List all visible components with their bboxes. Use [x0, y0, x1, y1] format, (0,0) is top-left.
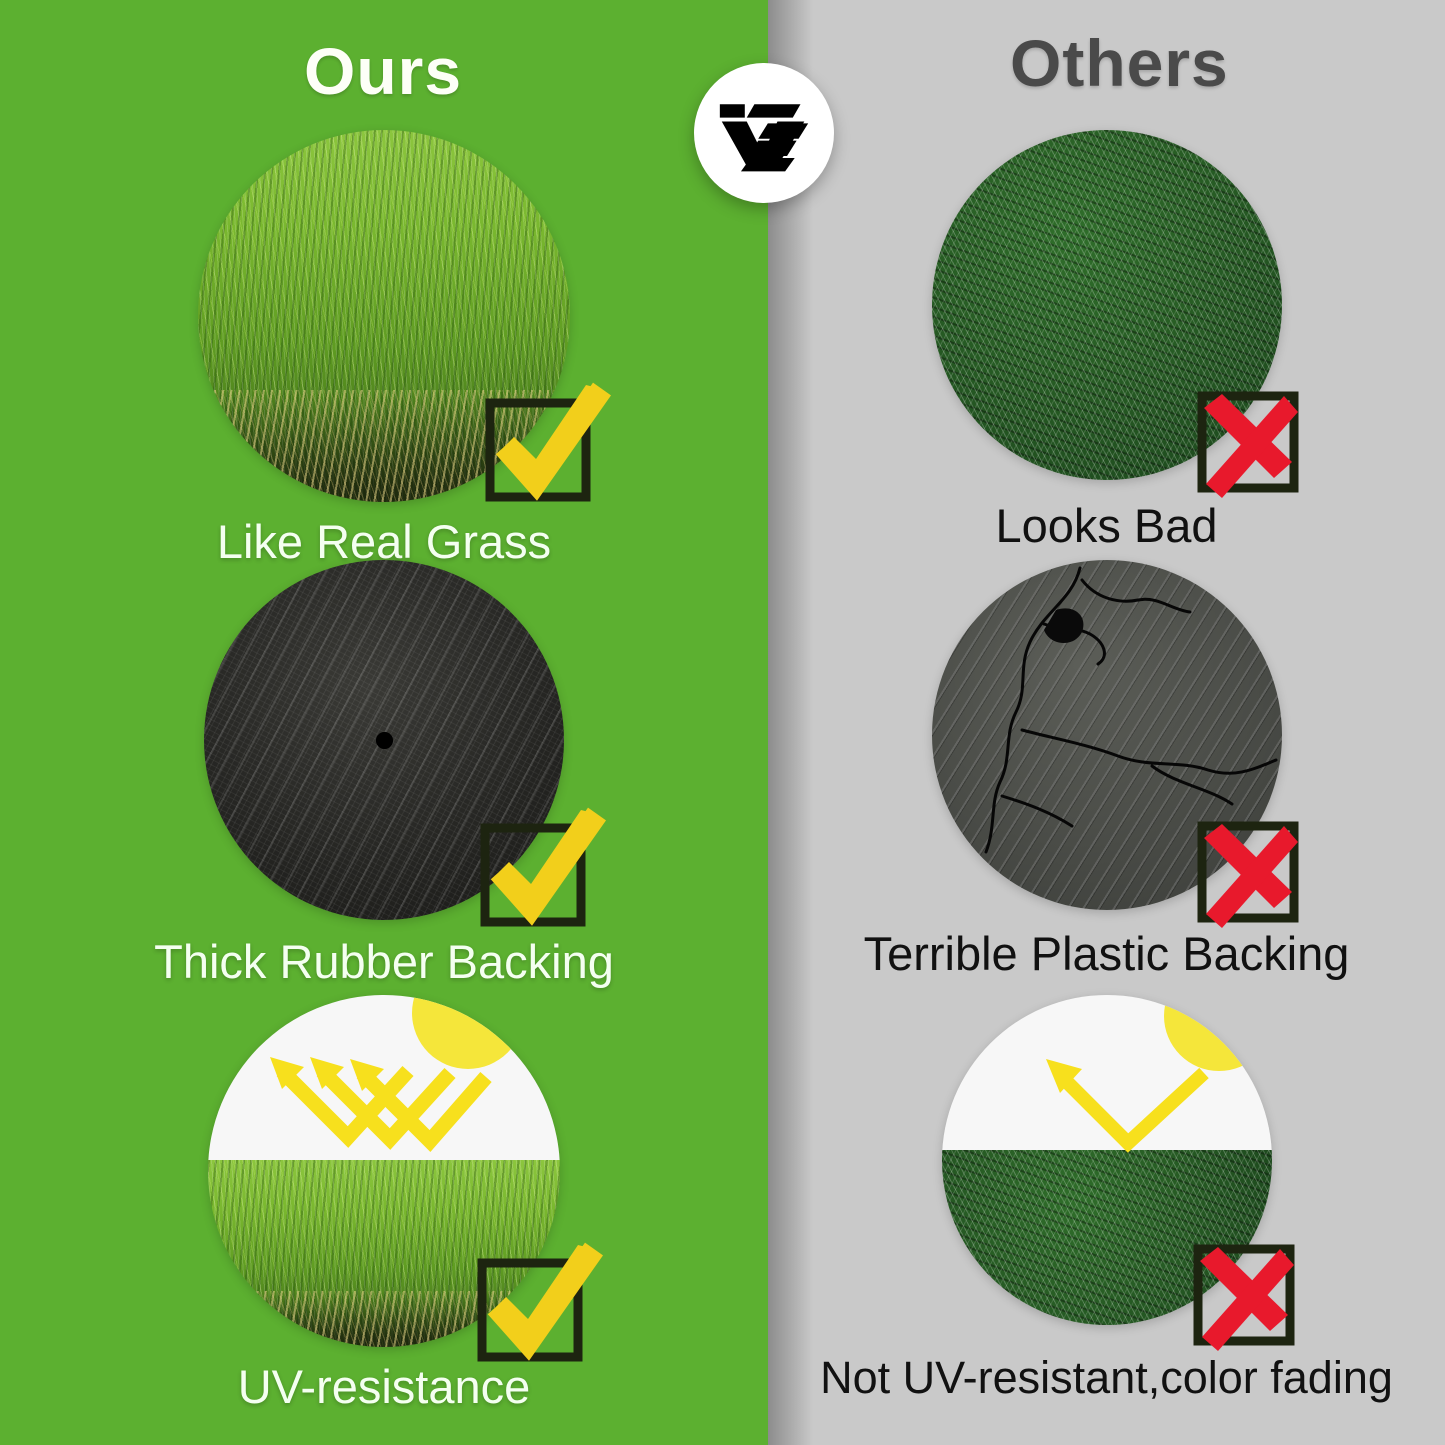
others-grass-cell: Looks Bad [768, 130, 1445, 480]
x-mark-icon [1188, 810, 1308, 930]
vs-badge [694, 63, 834, 203]
ours-backing-caption: Thick Rubber Backing [0, 938, 768, 985]
ours-backing-cell: Thick Rubber Backing [0, 560, 768, 920]
check-mark-icon [474, 385, 604, 505]
ours-uv-caption: UV-resistance [0, 1363, 768, 1410]
vs-badge-icon [716, 94, 812, 172]
others-column-title: Others [1010, 30, 1229, 96]
others-grass-caption: Looks Bad [768, 502, 1445, 549]
others-backing-cell: Terrible Plastic Backing [768, 560, 1445, 910]
ours-grass-cell: Like Real Grass [0, 130, 768, 502]
others-uv-cell: Not UV-resistant,color fading [768, 995, 1445, 1325]
row-backing: Thick Rubber Backing [0, 560, 1445, 990]
x-mark-icon [1188, 380, 1308, 500]
row-uv: UV-resistance [0, 995, 1445, 1435]
ours-column-title: Ours [304, 38, 462, 104]
others-backing-caption: Terrible Plastic Backing [768, 930, 1445, 977]
drainage-hole [376, 732, 393, 749]
comparison-infographic: Ours Others [0, 0, 1445, 1445]
check-mark-icon [466, 1245, 596, 1365]
x-mark-icon [1184, 1233, 1304, 1353]
ours-grass-caption: Like Real Grass [0, 518, 768, 565]
check-mark-icon [469, 810, 599, 930]
row-grass: Like Real Grass Looks Bad [0, 130, 1445, 570]
ours-uv-cell: UV-resistance [0, 995, 768, 1347]
others-uv-caption: Not UV-resistant,color fading [768, 1355, 1445, 1400]
